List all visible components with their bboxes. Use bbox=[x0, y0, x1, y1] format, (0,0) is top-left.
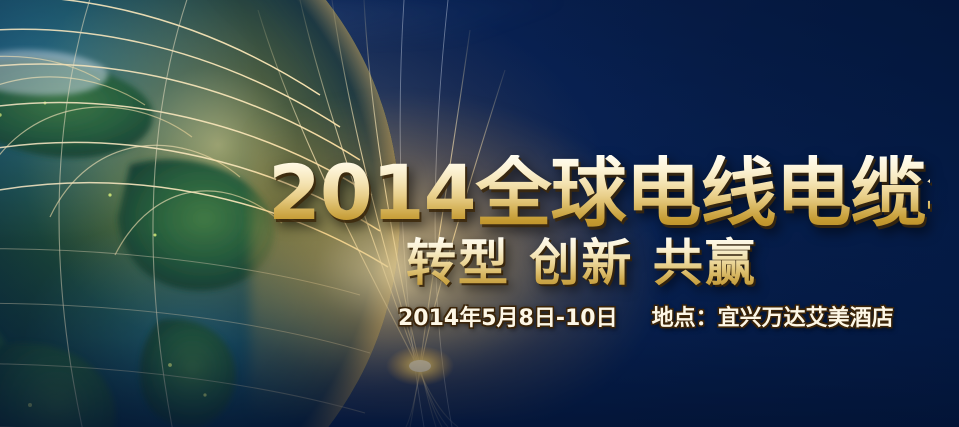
background-bottom-shade bbox=[0, 227, 959, 427]
conference-banner: 2014全球电线电缆年会 转型 创新 共赢 2014年5月8日-10日 地点：宜… bbox=[0, 0, 959, 427]
